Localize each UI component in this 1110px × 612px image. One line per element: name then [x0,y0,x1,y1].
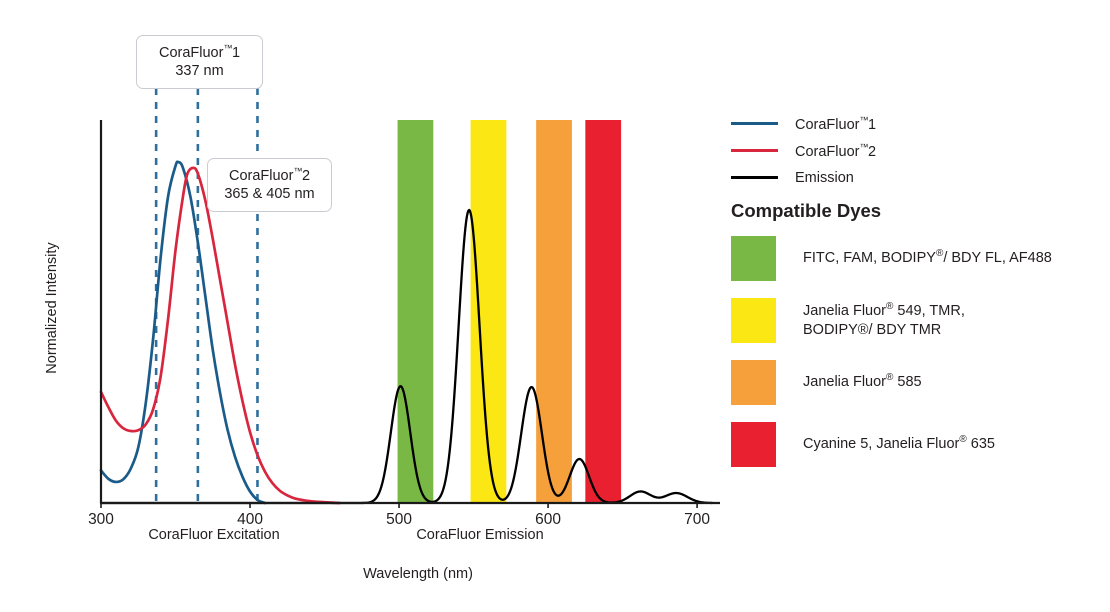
dye-item-red: Cyanine 5, Janelia Fluor® 635 [731,422,1101,467]
series-legend: CoraFluor™1 CoraFluor™2 Emission [731,110,1091,191]
x-tick-label-600: 600 [535,511,561,528]
callout-corafluor2: CoraFluor™2 365 & 405 nm [207,158,332,212]
emission-band-green-band [398,120,434,503]
legend-line-swatch [731,122,778,125]
trademark-icon: ™ [859,142,868,152]
dye-label-cont: 585 [893,374,921,390]
x-tick-label-700: 700 [684,511,710,528]
dye-color-swatch [731,360,776,405]
dye-item-orange: Janelia Fluor® 585 [731,360,1101,405]
dye-label: FITC, FAM, BODIPY [803,250,936,266]
dye-color-swatch [731,422,776,467]
registered-icon: ® [959,434,966,445]
region-label-excitation: CoraFluor Excitation [84,527,344,543]
legend-label-suffix: 1 [868,116,876,132]
callout-cf2-name: CoraFluor [229,168,293,184]
legend-label: Emission [795,170,854,186]
dye-label: Janelia Fluor [803,303,886,319]
legend-item-corafluor2: CoraFluor™2 [731,137,1091,164]
x-tick-label-500: 500 [386,511,412,528]
legend-item-emission: Emission [731,164,1091,191]
trademark-icon: ™ [293,166,302,176]
callout-cf2-suffix: 2 [302,168,310,184]
callout-cf1-wavelength: 337 nm [149,63,250,81]
callout-cf2-wavelength: 365 & 405 nm [220,186,319,204]
callout-cf1-suffix: 1 [232,45,240,61]
compatible-dyes-list: FITC, FAM, BODIPY®/ BDY FL, AF488 Janeli… [731,236,1101,484]
legend-label: CoraFluor [795,116,859,132]
emission-band-red-band [585,120,621,503]
spectra-chart: 300400500600700 CoraFluor™1 337 nm CoraF… [0,0,1110,612]
dye-color-swatch [731,236,776,281]
dye-label-line2: BODIPY®/ BDY TMR [803,322,941,338]
region-label-emission: CoraFluor Emission [350,527,610,543]
dye-label: Cyanine 5, Janelia Fluor [803,436,959,452]
dye-color-swatch [731,298,776,343]
emission-band-orange-band [536,120,572,503]
legend-label-suffix: 2 [868,143,876,159]
dye-label-cont: 549, TMR, [893,303,964,319]
y-axis-label: Normalized Intensity [44,213,60,403]
dye-item-green: FITC, FAM, BODIPY®/ BDY FL, AF488 [731,236,1101,281]
dye-item-yellow: Janelia Fluor® 549, TMR,BODIPY®/ BDY TMR [731,298,1101,343]
legend-label: CoraFluor [795,143,859,159]
callout-corafluor1: CoraFluor™1 337 nm [136,35,263,89]
legend-line-swatch [731,176,778,179]
dye-label-cont: 635 [967,436,995,452]
legend-item-corafluor1: CoraFluor™1 [731,110,1091,137]
x-tick-label-400: 400 [237,511,263,528]
dye-label-cont: / BDY FL, AF488 [943,250,1052,266]
x-tick-label-300: 300 [88,511,114,528]
x-axis-title: Wavelength (nm) [288,566,548,582]
trademark-icon: ™ [859,115,868,125]
dye-label: Janelia Fluor [803,374,886,390]
legend-line-swatch [731,149,778,152]
curve-corafluor1 [101,162,265,503]
callout-cf1-name: CoraFluor [159,45,223,61]
compatible-dyes-heading: Compatible Dyes [731,200,881,222]
trademark-icon: ™ [223,43,232,53]
